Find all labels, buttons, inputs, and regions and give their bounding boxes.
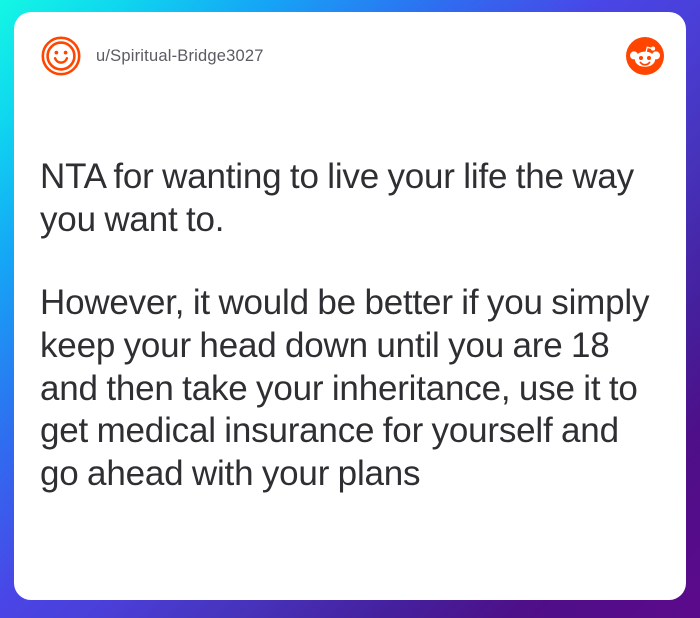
comment-body: NTA for wanting to live your life the wa… (40, 156, 660, 496)
card-header: u/Spiritual-Bridge3027 (14, 12, 686, 100)
smiley-face-icon (40, 35, 82, 77)
username-label: u/Spiritual-Bridge3027 (96, 47, 264, 66)
comment-paragraph: However, it would be better if you simpl… (40, 282, 660, 495)
reddit-comment-card: u/Spiritual-Bridge3027 NTA for wanting t… (14, 12, 686, 600)
comment-paragraph: NTA for wanting to live your life the wa… (40, 156, 660, 241)
reddit-snoo-icon (626, 37, 664, 75)
